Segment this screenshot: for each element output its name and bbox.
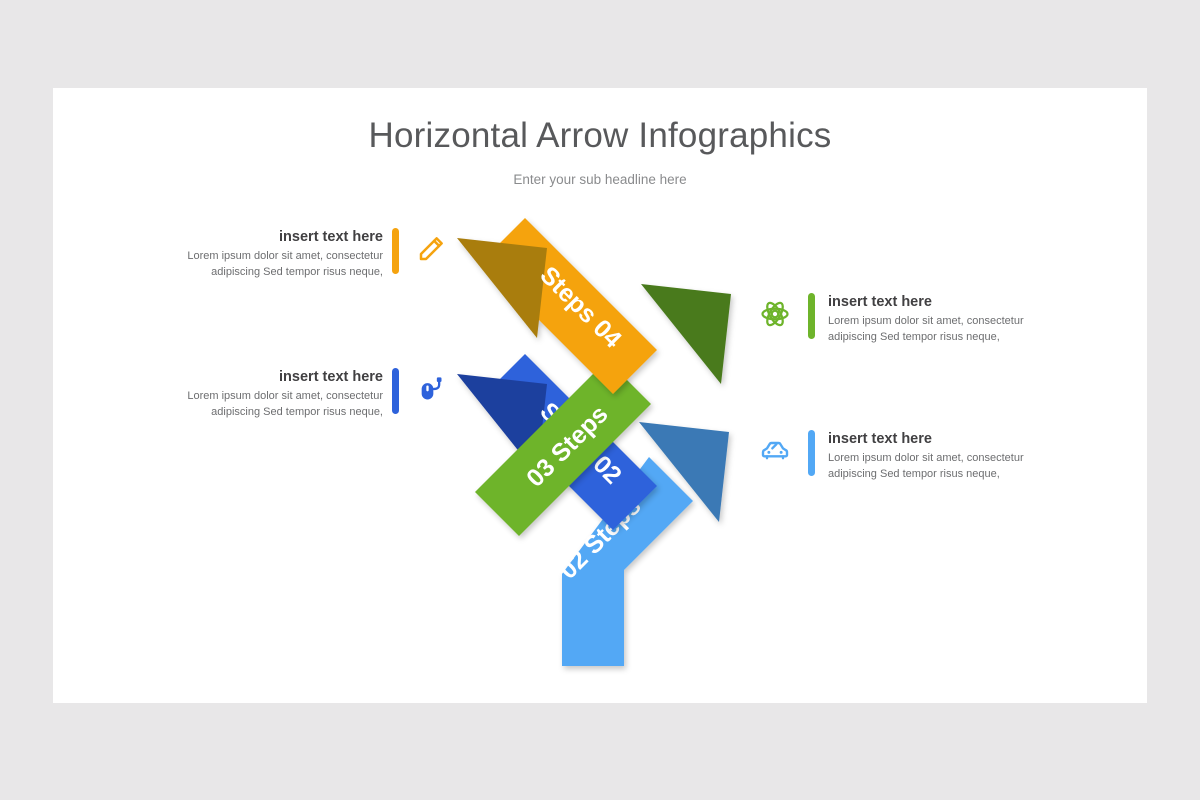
car-icon bbox=[758, 434, 792, 468]
block-top-right-heading: insert text here bbox=[828, 293, 1053, 311]
pencil-icon bbox=[414, 232, 448, 266]
block-top-left-heading: insert text here bbox=[158, 228, 383, 246]
slide-canvas: Horizontal Arrow Infographics Enter your… bbox=[53, 88, 1147, 703]
block-bottom-left[interactable]: insert text here Lorem ipsum dolor sit a… bbox=[158, 368, 448, 420]
block-bottom-left-heading: insert text here bbox=[158, 368, 383, 386]
block-bottom-right-body: Lorem ipsum dolor sit amet, consectetur … bbox=[828, 451, 1053, 482]
block-top-left[interactable]: insert text here Lorem ipsum dolor sit a… bbox=[158, 228, 448, 280]
block-top-left-body: Lorem ipsum dolor sit amet, consectetur … bbox=[158, 249, 383, 280]
block-top-right-body: Lorem ipsum dolor sit amet, consectetur … bbox=[828, 314, 1053, 345]
block-top-left-text: insert text here Lorem ipsum dolor sit a… bbox=[158, 228, 383, 280]
block-bottom-left-text: insert text here Lorem ipsum dolor sit a… bbox=[158, 368, 383, 420]
arrow-04[interactable] bbox=[457, 218, 657, 394]
block-bottom-left-body: Lorem ipsum dolor sit amet, consectetur … bbox=[158, 389, 383, 420]
block-bottom-right-accent-bar bbox=[808, 430, 815, 476]
block-top-right[interactable]: insert text here Lorem ipsum dolor sit a… bbox=[758, 293, 1053, 345]
block-bottom-left-accent-bar bbox=[392, 368, 399, 414]
block-top-left-accent-bar bbox=[392, 228, 399, 274]
block-bottom-right[interactable]: insert text here Lorem ipsum dolor sit a… bbox=[758, 430, 1053, 482]
block-top-right-text: insert text here Lorem ipsum dolor sit a… bbox=[828, 293, 1053, 345]
arrow-03-head bbox=[641, 284, 731, 384]
block-bottom-right-heading: insert text here bbox=[828, 430, 1053, 448]
block-bottom-right-text: insert text here Lorem ipsum dolor sit a… bbox=[828, 430, 1053, 482]
block-top-right-accent-bar bbox=[808, 293, 815, 339]
atom-icon bbox=[758, 297, 792, 331]
mouse-icon bbox=[414, 372, 448, 406]
arrow-04-head bbox=[457, 238, 547, 338]
